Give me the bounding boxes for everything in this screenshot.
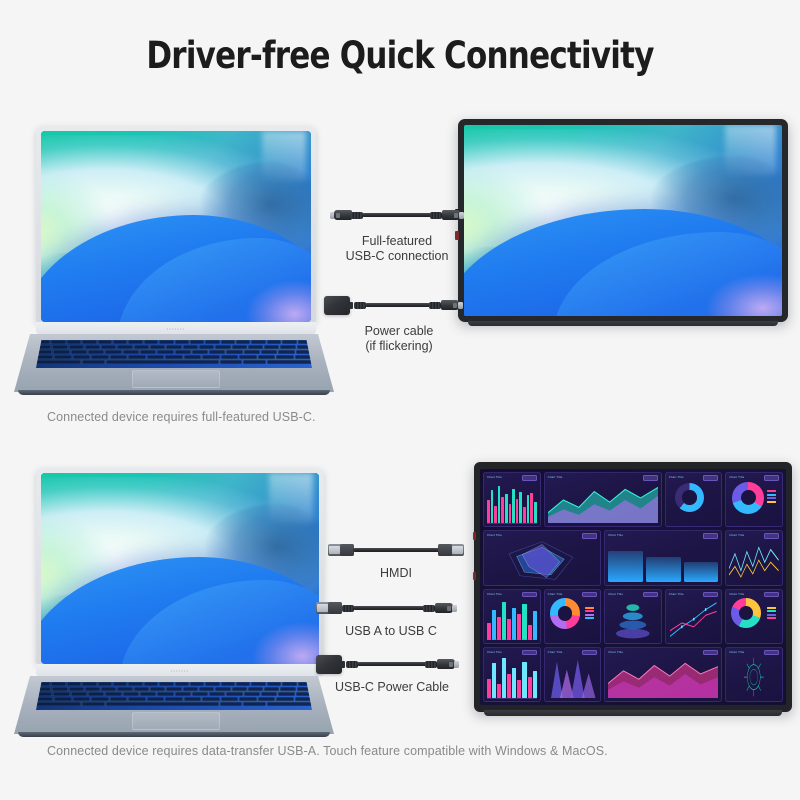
power-usb-c-plug bbox=[441, 300, 459, 310]
power-cable-label: Power cable (if flickering) bbox=[326, 324, 472, 354]
dashboard-bezel: Chart Title Chart Title bbox=[474, 462, 792, 712]
usb-c-plug-right bbox=[442, 210, 460, 220]
card-button[interactable] bbox=[703, 533, 718, 539]
wallpaper-1 bbox=[41, 131, 311, 322]
card-title: Chart Title bbox=[487, 475, 502, 479]
dashboard-card[interactable]: Chart Title bbox=[725, 647, 783, 702]
card-title: Chart Title bbox=[669, 475, 684, 479]
dashboard-card[interactable]: Chart Title bbox=[604, 647, 722, 702]
card-title: Chart Title bbox=[548, 475, 563, 479]
connectivity-infographic: Driver-free Quick Connectivity ••••••• bbox=[0, 0, 800, 800]
cable-usb-a-group: USB A to USB C bbox=[316, 598, 471, 638]
power-label-line2: (if flickering) bbox=[326, 339, 472, 354]
caption-section-1: Connected device requires full-featured … bbox=[47, 410, 316, 424]
laptop-lid-1 bbox=[36, 126, 316, 322]
card-button[interactable] bbox=[643, 592, 658, 598]
usb-c-plug-left bbox=[334, 210, 352, 220]
card-button[interactable] bbox=[764, 650, 779, 656]
power-cable-graphic bbox=[324, 295, 468, 315]
laptop-trackpad-2[interactable] bbox=[132, 712, 220, 730]
laptop-brand-logo-2: ••••••• bbox=[171, 668, 189, 673]
usb-a-cable-wire bbox=[353, 606, 427, 610]
cable-wire bbox=[362, 213, 434, 217]
card-title: Chart Title bbox=[548, 592, 563, 596]
card-title: Chart Title bbox=[608, 592, 623, 596]
usb-a-plug bbox=[316, 602, 342, 614]
power-strain-right bbox=[429, 302, 441, 309]
donut-chart bbox=[732, 482, 764, 514]
usb-c-cable-label: Full-featured USB-C connection bbox=[325, 234, 469, 264]
dashboard-card[interactable]: Chart Title bbox=[725, 589, 783, 644]
card-title: Chart Title bbox=[669, 592, 684, 596]
card-button[interactable] bbox=[703, 475, 718, 481]
usb-a-usb-c-plug bbox=[435, 603, 453, 613]
laptop-keyboard-2[interactable] bbox=[36, 682, 312, 710]
card-title: Chart Title bbox=[729, 475, 744, 479]
card-button[interactable] bbox=[522, 475, 537, 481]
dashboard-card[interactable]: Chart Title bbox=[483, 530, 601, 585]
dashboard-port-2[interactable] bbox=[473, 572, 476, 580]
monitor-screen bbox=[464, 125, 782, 316]
hdmi-cable-graphic bbox=[328, 540, 464, 560]
card-button[interactable] bbox=[703, 650, 718, 656]
donut-chart bbox=[731, 598, 761, 628]
dashboard-card[interactable]: Chart Title bbox=[483, 472, 541, 527]
card-title: Chart Title bbox=[729, 592, 744, 596]
laptop-front-edge-2 bbox=[18, 732, 330, 737]
laptop-trackpad-1[interactable] bbox=[132, 370, 220, 388]
card-button[interactable] bbox=[582, 650, 597, 656]
cable-usb-c-group: Full-featured USB-C connection bbox=[330, 205, 470, 265]
dashboard-card[interactable]: Chart Title bbox=[544, 589, 602, 644]
card-button[interactable] bbox=[582, 533, 597, 539]
card-button[interactable] bbox=[764, 475, 779, 481]
dashboard-card[interactable]: Chart Title bbox=[483, 647, 541, 702]
dashboard-card[interactable]: Chart Title bbox=[725, 530, 783, 585]
usb-c-label-line2: USB-C connection bbox=[325, 249, 469, 264]
hdmi-label-line1: HMDI bbox=[328, 566, 464, 581]
page-title: Driver-free Quick Connectivity bbox=[28, 34, 772, 77]
card-title: Chart Title bbox=[487, 533, 502, 537]
usb-a-label-line1: USB A to USB C bbox=[316, 624, 466, 639]
usb-a-strain-right bbox=[423, 605, 435, 612]
usb-c-cable-graphic bbox=[330, 205, 464, 225]
laptop-base-2 bbox=[14, 676, 334, 734]
power-label-line1: Power cable bbox=[326, 324, 472, 339]
card-title: Chart Title bbox=[487, 650, 502, 654]
wallpaper-3 bbox=[41, 473, 319, 664]
card-button[interactable] bbox=[522, 650, 537, 656]
laptop-device-1: ••••••• bbox=[14, 126, 334, 376]
cable-strain-right bbox=[430, 212, 442, 219]
dashboard-card[interactable]: Chart Title bbox=[544, 472, 662, 527]
cable-power-group: Power cable (if flickering) bbox=[324, 295, 474, 355]
laptop-lid-2 bbox=[36, 468, 324, 664]
usb-c-power-cable-graphic bbox=[316, 654, 466, 674]
card-title: Chart Title bbox=[729, 650, 744, 654]
power-usb-c-tip bbox=[458, 302, 463, 309]
usb-c-power-tip bbox=[454, 661, 459, 668]
hdmi-plug-right bbox=[438, 544, 464, 556]
laptop-brand-logo: ••••••• bbox=[167, 326, 185, 331]
card-title: Chart Title bbox=[548, 650, 563, 654]
usb-c-power-brick bbox=[316, 655, 342, 674]
portable-monitor bbox=[458, 119, 788, 322]
usb-c-power-label-line1: USB-C Power Cable bbox=[316, 680, 468, 695]
dashboard-card[interactable]: Chart Title bbox=[665, 472, 723, 527]
card-button[interactable] bbox=[522, 592, 537, 598]
power-cable-wire bbox=[365, 303, 433, 307]
dashboard-card[interactable]: Chart Title bbox=[725, 472, 783, 527]
laptop-keyboard-1[interactable] bbox=[36, 340, 312, 368]
usb-c-power-strain-right bbox=[425, 661, 437, 668]
usb-c-power-cable-label: USB-C Power Cable bbox=[316, 680, 468, 695]
dashboard-screen: Chart Title Chart Title bbox=[480, 469, 786, 705]
donut-chart bbox=[675, 483, 705, 513]
dashboard-card[interactable]: Chart Title bbox=[483, 589, 541, 644]
cable-hdmi-group: HMDI bbox=[328, 540, 468, 580]
laptop-chin-1: ••••••• bbox=[36, 322, 316, 334]
card-title: Chart Title bbox=[608, 650, 623, 654]
pie-chart bbox=[550, 598, 581, 629]
card-button[interactable] bbox=[582, 592, 597, 598]
laptop-screen-1 bbox=[41, 131, 311, 322]
usb-c-power-wire bbox=[357, 662, 429, 666]
laptop-base-1 bbox=[14, 334, 334, 392]
card-button[interactable] bbox=[703, 592, 718, 598]
laptop-screen-2 bbox=[41, 473, 319, 664]
card-button[interactable] bbox=[764, 592, 779, 598]
hdmi-cable-wire bbox=[353, 548, 441, 552]
hdmi-cable-label: HMDI bbox=[328, 566, 464, 581]
dashboard-card[interactable]: Chart Title bbox=[604, 589, 662, 644]
hdmi-plug-left bbox=[328, 544, 354, 556]
usb-c-label-line1: Full-featured bbox=[325, 234, 469, 249]
caption-section-2: Connected device requires data-transfer … bbox=[47, 744, 608, 758]
wallpaper-2 bbox=[464, 125, 782, 316]
card-button[interactable] bbox=[643, 475, 658, 481]
cable-usb-c-power-group: USB-C Power Cable bbox=[316, 654, 476, 694]
monitor-bezel bbox=[458, 119, 788, 322]
dashboard-stand bbox=[484, 710, 782, 716]
laptop-front-edge-1 bbox=[18, 390, 330, 395]
usb-a-cable-graphic bbox=[316, 598, 464, 618]
dashboard-card[interactable]: Chart Title bbox=[665, 589, 723, 644]
power-adapter-brick bbox=[324, 296, 350, 315]
laptop-device-2: ••••••• bbox=[14, 468, 334, 718]
usb-c-power-plug bbox=[437, 659, 455, 669]
card-title: Chart Title bbox=[487, 592, 502, 596]
card-title: Chart Title bbox=[729, 533, 744, 537]
dashboard-card[interactable]: Chart Title bbox=[544, 647, 602, 702]
dashboard-port-1[interactable] bbox=[473, 532, 476, 540]
card-button[interactable] bbox=[764, 533, 779, 539]
usb-a-cable-label: USB A to USB C bbox=[316, 624, 466, 639]
card-title: Chart Title bbox=[608, 533, 623, 537]
monitor-stand bbox=[468, 321, 778, 326]
usb-c-tip-right bbox=[459, 212, 464, 219]
laptop-chin-2: ••••••• bbox=[36, 664, 324, 676]
dashboard-monitor: Chart Title Chart Title bbox=[474, 462, 792, 712]
dashboard-card[interactable]: Chart Title bbox=[604, 530, 722, 585]
usb-a-usb-c-tip bbox=[452, 605, 457, 612]
